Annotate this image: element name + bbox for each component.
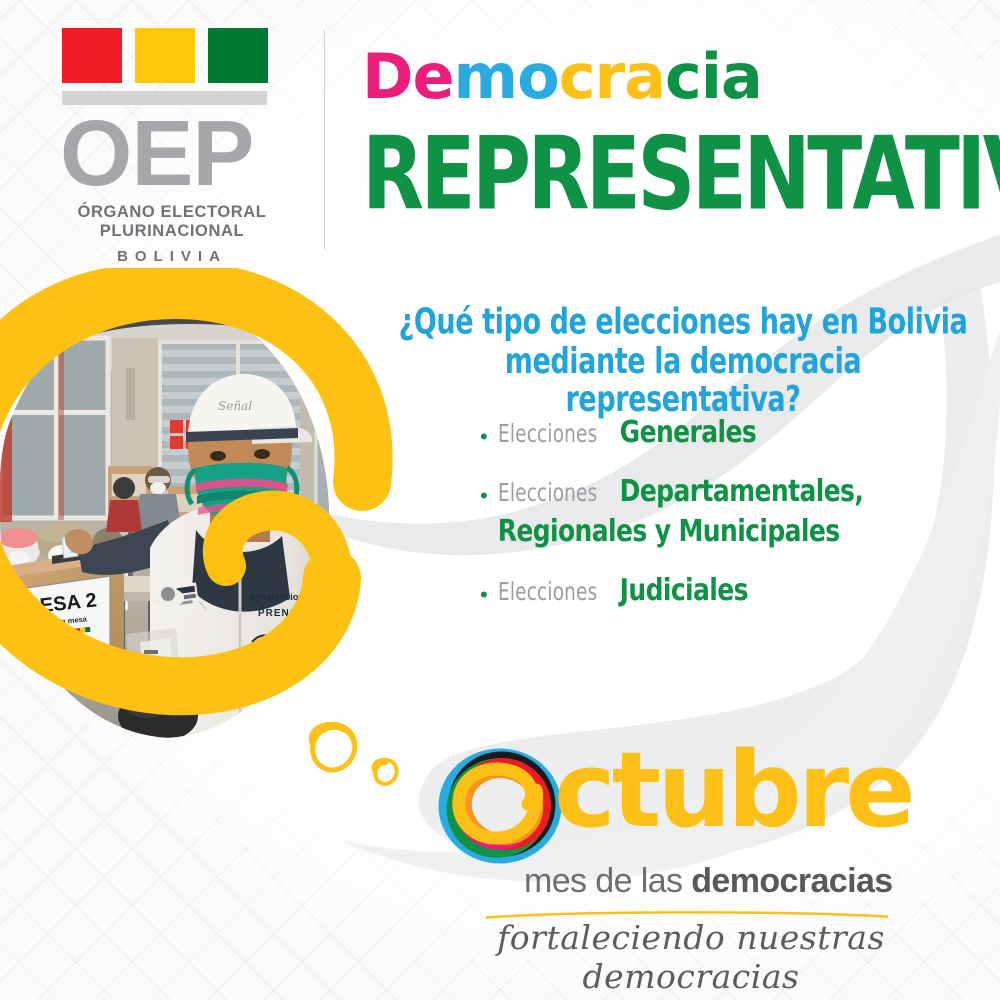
- header: OEP ÓRGANO ELECTORAL PLURINACIONAL BOLIV…: [0, 0, 1000, 270]
- title-letter-e: e: [412, 46, 453, 108]
- octubre-tagline: mes de las democracias: [524, 862, 944, 901]
- title-representativa: REPRESENTATIVA: [362, 124, 994, 225]
- answer-highlight: Generales: [620, 414, 756, 449]
- decorative-yellow-scribbles: [300, 715, 430, 805]
- flag-square-red: [62, 28, 122, 83]
- bullet-dot-icon: •: [480, 426, 488, 448]
- answer-highlight: Departamentales,: [620, 473, 864, 508]
- bullet-dot-icon: •: [480, 485, 488, 507]
- question-line-2: mediante la democracia representativa?: [383, 342, 983, 420]
- title-letter-c: c: [559, 46, 595, 108]
- title-letter-m: m: [454, 46, 518, 108]
- title-letter-c: c: [665, 46, 701, 108]
- oep-logo: OEP ÓRGANO ELECTORAL PLURINACIONAL BOLIV…: [22, 28, 322, 265]
- octubre-campaign-logo: ctubre mes de las democracias fortalecie…: [436, 742, 936, 867]
- list-item: • Elecciones Departamentales, Regionales…: [480, 479, 940, 548]
- octubre-tagline-bold: democracias: [691, 862, 892, 900]
- logo-acronym: OEP: [60, 111, 322, 197]
- title-letter-i: i: [701, 46, 721, 108]
- answer-prefix: Elecciones: [498, 479, 597, 507]
- title-letter-D: D: [362, 46, 412, 108]
- answer-highlight-line2: Regionales y Municipales: [498, 513, 864, 548]
- list-item: • Elecciones Judiciales: [480, 578, 940, 607]
- title-letter-r: r: [595, 46, 625, 108]
- answer-prefix: Elecciones: [498, 420, 597, 448]
- octubre-tagline-light: mes de las: [524, 862, 691, 900]
- photo-block: MESA 2 Apertura de mesa Cierre de mesa O…: [0, 280, 390, 760]
- bolivia-flag-squares-icon: [62, 28, 322, 83]
- octubre-ring-icon: [436, 746, 566, 868]
- answer-highlight: Judiciales: [620, 572, 748, 607]
- logo-subtitle-institution: ÓRGANO ELECTORAL PLURINACIONAL: [22, 203, 322, 241]
- octubre-script-tagline: fortaleciendo nuestras democracias: [446, 918, 936, 996]
- bullet-dot-icon: •: [480, 584, 488, 606]
- flag-square-green: [208, 28, 268, 83]
- header-divider: [324, 30, 325, 250]
- question-line-1: ¿Qué tipo de elecciones hay en Bolivia: [383, 303, 983, 342]
- logo-subtitle-country: BOLIVIA: [22, 248, 322, 265]
- title-letter-a: a: [721, 46, 762, 108]
- title-democracia: Democracia: [362, 46, 982, 108]
- title-letter-a: a: [624, 46, 665, 108]
- yellow-brush-frame: [0, 268, 400, 788]
- octubre-wordmark: ctubre: [554, 738, 912, 842]
- question-text: ¿Qué tipo de elecciones hay en Bolivia m…: [383, 303, 983, 421]
- title-letter-o: o: [517, 46, 559, 108]
- list-item: • Elecciones Generales: [480, 420, 940, 449]
- answer-prefix: Elecciones: [498, 578, 597, 606]
- title-block: Democracia REPRESENTATIVA: [362, 46, 982, 203]
- flag-square-yellow: [135, 28, 195, 83]
- answers-list: • Elecciones Generales • Elecciones Depa…: [480, 420, 940, 637]
